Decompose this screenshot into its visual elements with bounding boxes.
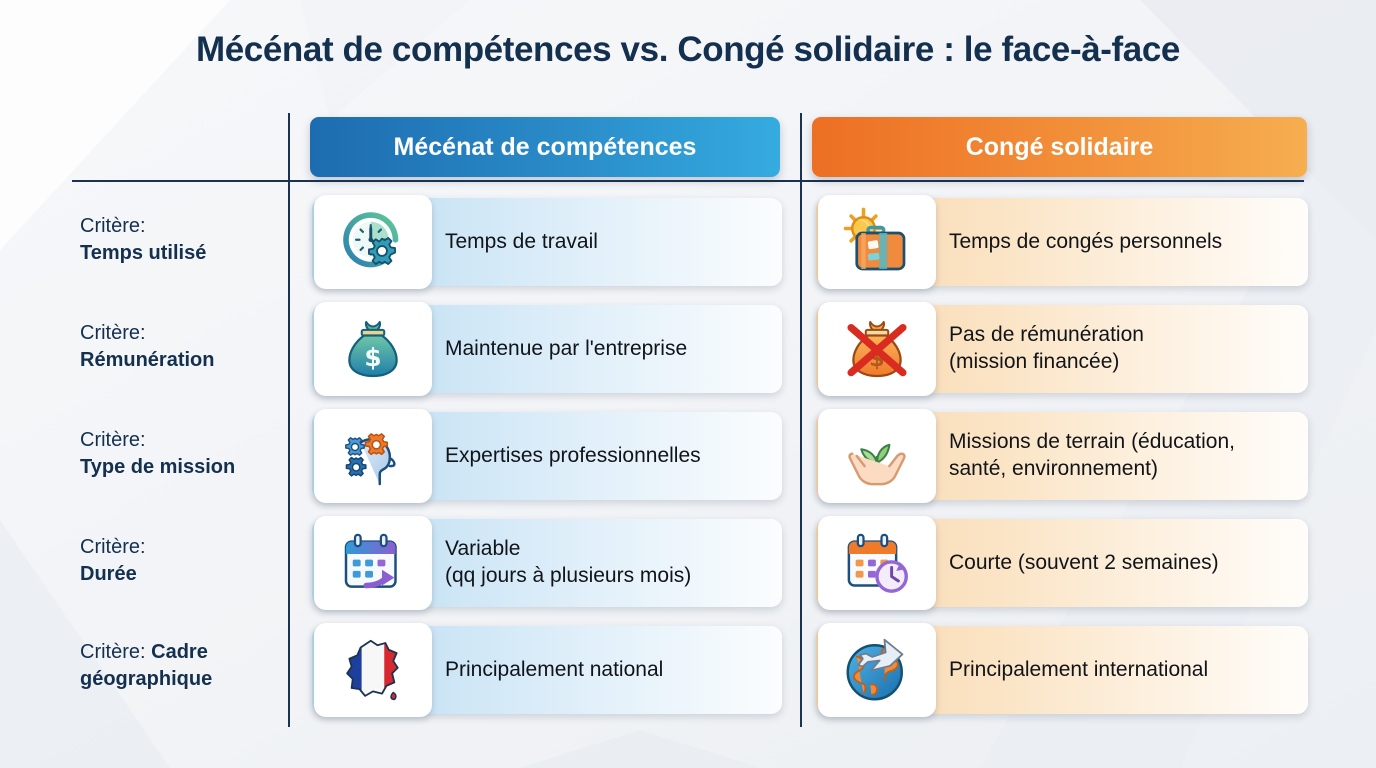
criterion-temps-utilise: Critère:Temps utilisé	[80, 213, 280, 266]
france-map-icon	[314, 623, 432, 717]
cell-text: Pas de rémunération(mission financée)	[949, 322, 1158, 376]
svg-text:$: $	[364, 343, 381, 372]
column-divider-right	[800, 113, 802, 727]
criterion-duree: Critère:Durée	[80, 534, 280, 587]
cell-text: Principalement national	[445, 657, 677, 684]
calendar-clock-icon	[818, 516, 936, 610]
cell-text: Temps de congés personnels	[949, 229, 1236, 256]
mecenat-cell-remuneration: $Maintenue par l'entreprise	[312, 305, 782, 393]
criterion-remuneration: Critère:Rémunération	[80, 320, 280, 373]
mecenat-cell-cadre-geographique: Principalement national	[312, 626, 782, 714]
criterion-value: Rémunération	[80, 349, 214, 371]
criterion-value: Durée	[80, 563, 137, 585]
hands-sprout-icon	[818, 409, 936, 503]
sun-suitcase-icon	[818, 195, 936, 289]
mecenat-cell-temps-utilise: Temps de travail	[312, 198, 782, 286]
criterion-label: Critère:	[80, 215, 146, 237]
conge-cell-type-de-mission: Missions de terrain (éducation,santé, en…	[816, 412, 1308, 500]
criterion-label: Critère:	[80, 536, 146, 558]
calendar-arrow-icon	[314, 516, 432, 610]
column-divider-left	[288, 113, 290, 727]
page-title: Mécénat de compétences vs. Congé solidai…	[0, 30, 1376, 70]
header-divider-horizontal	[72, 180, 1304, 182]
criterion-label: Critère:	[80, 322, 146, 344]
conge-cell-duree: Courte (souvent 2 semaines)	[816, 519, 1308, 607]
cell-text: Missions de terrain (éducation,santé, en…	[949, 429, 1249, 483]
conge-cell-remuneration: $Pas de rémunération(mission financée)	[816, 305, 1308, 393]
column-header-mecenat-label: Mécénat de compétences	[394, 133, 697, 162]
criterion-type-de-mission: Critère:Type de mission	[80, 427, 280, 480]
mecenat-cell-type-de-mission: Expertises professionnelles	[312, 412, 782, 500]
conge-cell-temps-utilise: Temps de congés personnels	[816, 198, 1308, 286]
cell-text: Maintenue par l'entreprise	[445, 336, 701, 363]
criterion-label: Critère:	[80, 641, 146, 663]
cell-text: Variable(qq jours à plusieurs mois)	[445, 536, 705, 590]
criterion-cadre-geographique: Critère: Cadre géographique	[80, 639, 280, 692]
criterion-label: Critère:	[80, 429, 146, 451]
column-header-conge-label: Congé solidaire	[966, 133, 1154, 162]
money-bag-crossed-icon: $	[818, 302, 936, 396]
cell-text: Expertises professionnelles	[445, 443, 715, 470]
column-header-conge: Congé solidaire	[812, 117, 1307, 177]
mecenat-cell-duree: Variable(qq jours à plusieurs mois)	[312, 519, 782, 607]
conge-cell-cadre-geographique: Principalement international	[816, 626, 1308, 714]
gears-head-icon	[314, 409, 432, 503]
money-bag-icon: $	[314, 302, 432, 396]
cell-text: Courte (souvent 2 semaines)	[949, 550, 1233, 577]
globe-plane-icon	[818, 623, 936, 717]
cell-text: Temps de travail	[445, 229, 612, 256]
clock-gear-icon	[314, 195, 432, 289]
cell-text: Principalement international	[949, 657, 1222, 684]
criterion-value: Type de mission	[80, 456, 235, 478]
criterion-value: Temps utilisé	[80, 242, 206, 264]
column-header-mecenat: Mécénat de compétences	[310, 117, 780, 177]
